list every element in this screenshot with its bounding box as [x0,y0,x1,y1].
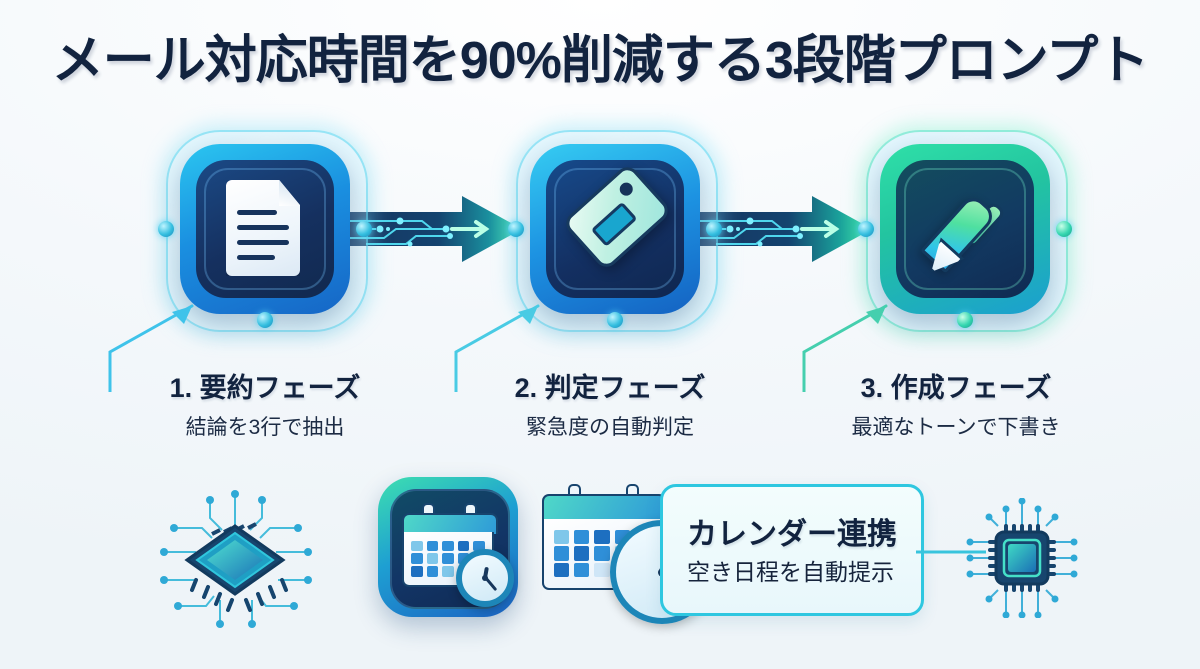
step-3-subtext: 最適なトーンで下書き [796,411,1116,441]
step-3-heading: 3. 作成フェーズ [796,366,1116,405]
connector-node-right [706,221,722,237]
connector-node-bottom [957,312,973,328]
step-2-label: 2. 判定フェーズ 緊急度の自動判定 [450,366,770,441]
step-2-tile[interactable] [530,144,700,314]
callout-subtext: 空き日程を自動提示 [687,553,894,587]
cpu-chip-icon-right [962,498,1082,618]
step-1-subtext: 結論を3行で抽出 [105,411,425,441]
connector-node-bottom [607,312,623,328]
connector-node-left [858,221,874,237]
calendar-tile[interactable] [378,477,518,617]
connector-node-right [1056,221,1072,237]
pen-icon [916,178,1020,282]
step-1-label: 1. 要約フェーズ 結論を3行で抽出 [105,366,425,441]
connector-node-left [158,221,174,237]
calendar-callout[interactable]: カレンダー連携 空き日程を自動提示 [660,484,924,616]
step-3-label: 3. 作成フェーズ 最適なトーンで下書き [796,366,1116,441]
tag-icon [566,178,666,278]
step-1-heading: 1. 要約フェーズ [105,366,425,405]
cpu-chip-icon-left [150,488,320,628]
connector-node-bottom [257,312,273,328]
infographic-canvas: メール対応時間を90%削減する3段階プロンプト [0,0,1200,669]
connector-node-left [508,221,524,237]
step-3-tile[interactable] [880,144,1050,314]
step-1-tile[interactable] [180,144,350,314]
step-2-heading: 2. 判定フェーズ [450,366,770,405]
step-2-subtext: 緊急度の自動判定 [450,411,770,441]
clock-icon [456,549,514,607]
document-icon [226,180,300,276]
connector-node-right [356,221,372,237]
callout-heading: カレンダー連携 [687,509,897,553]
